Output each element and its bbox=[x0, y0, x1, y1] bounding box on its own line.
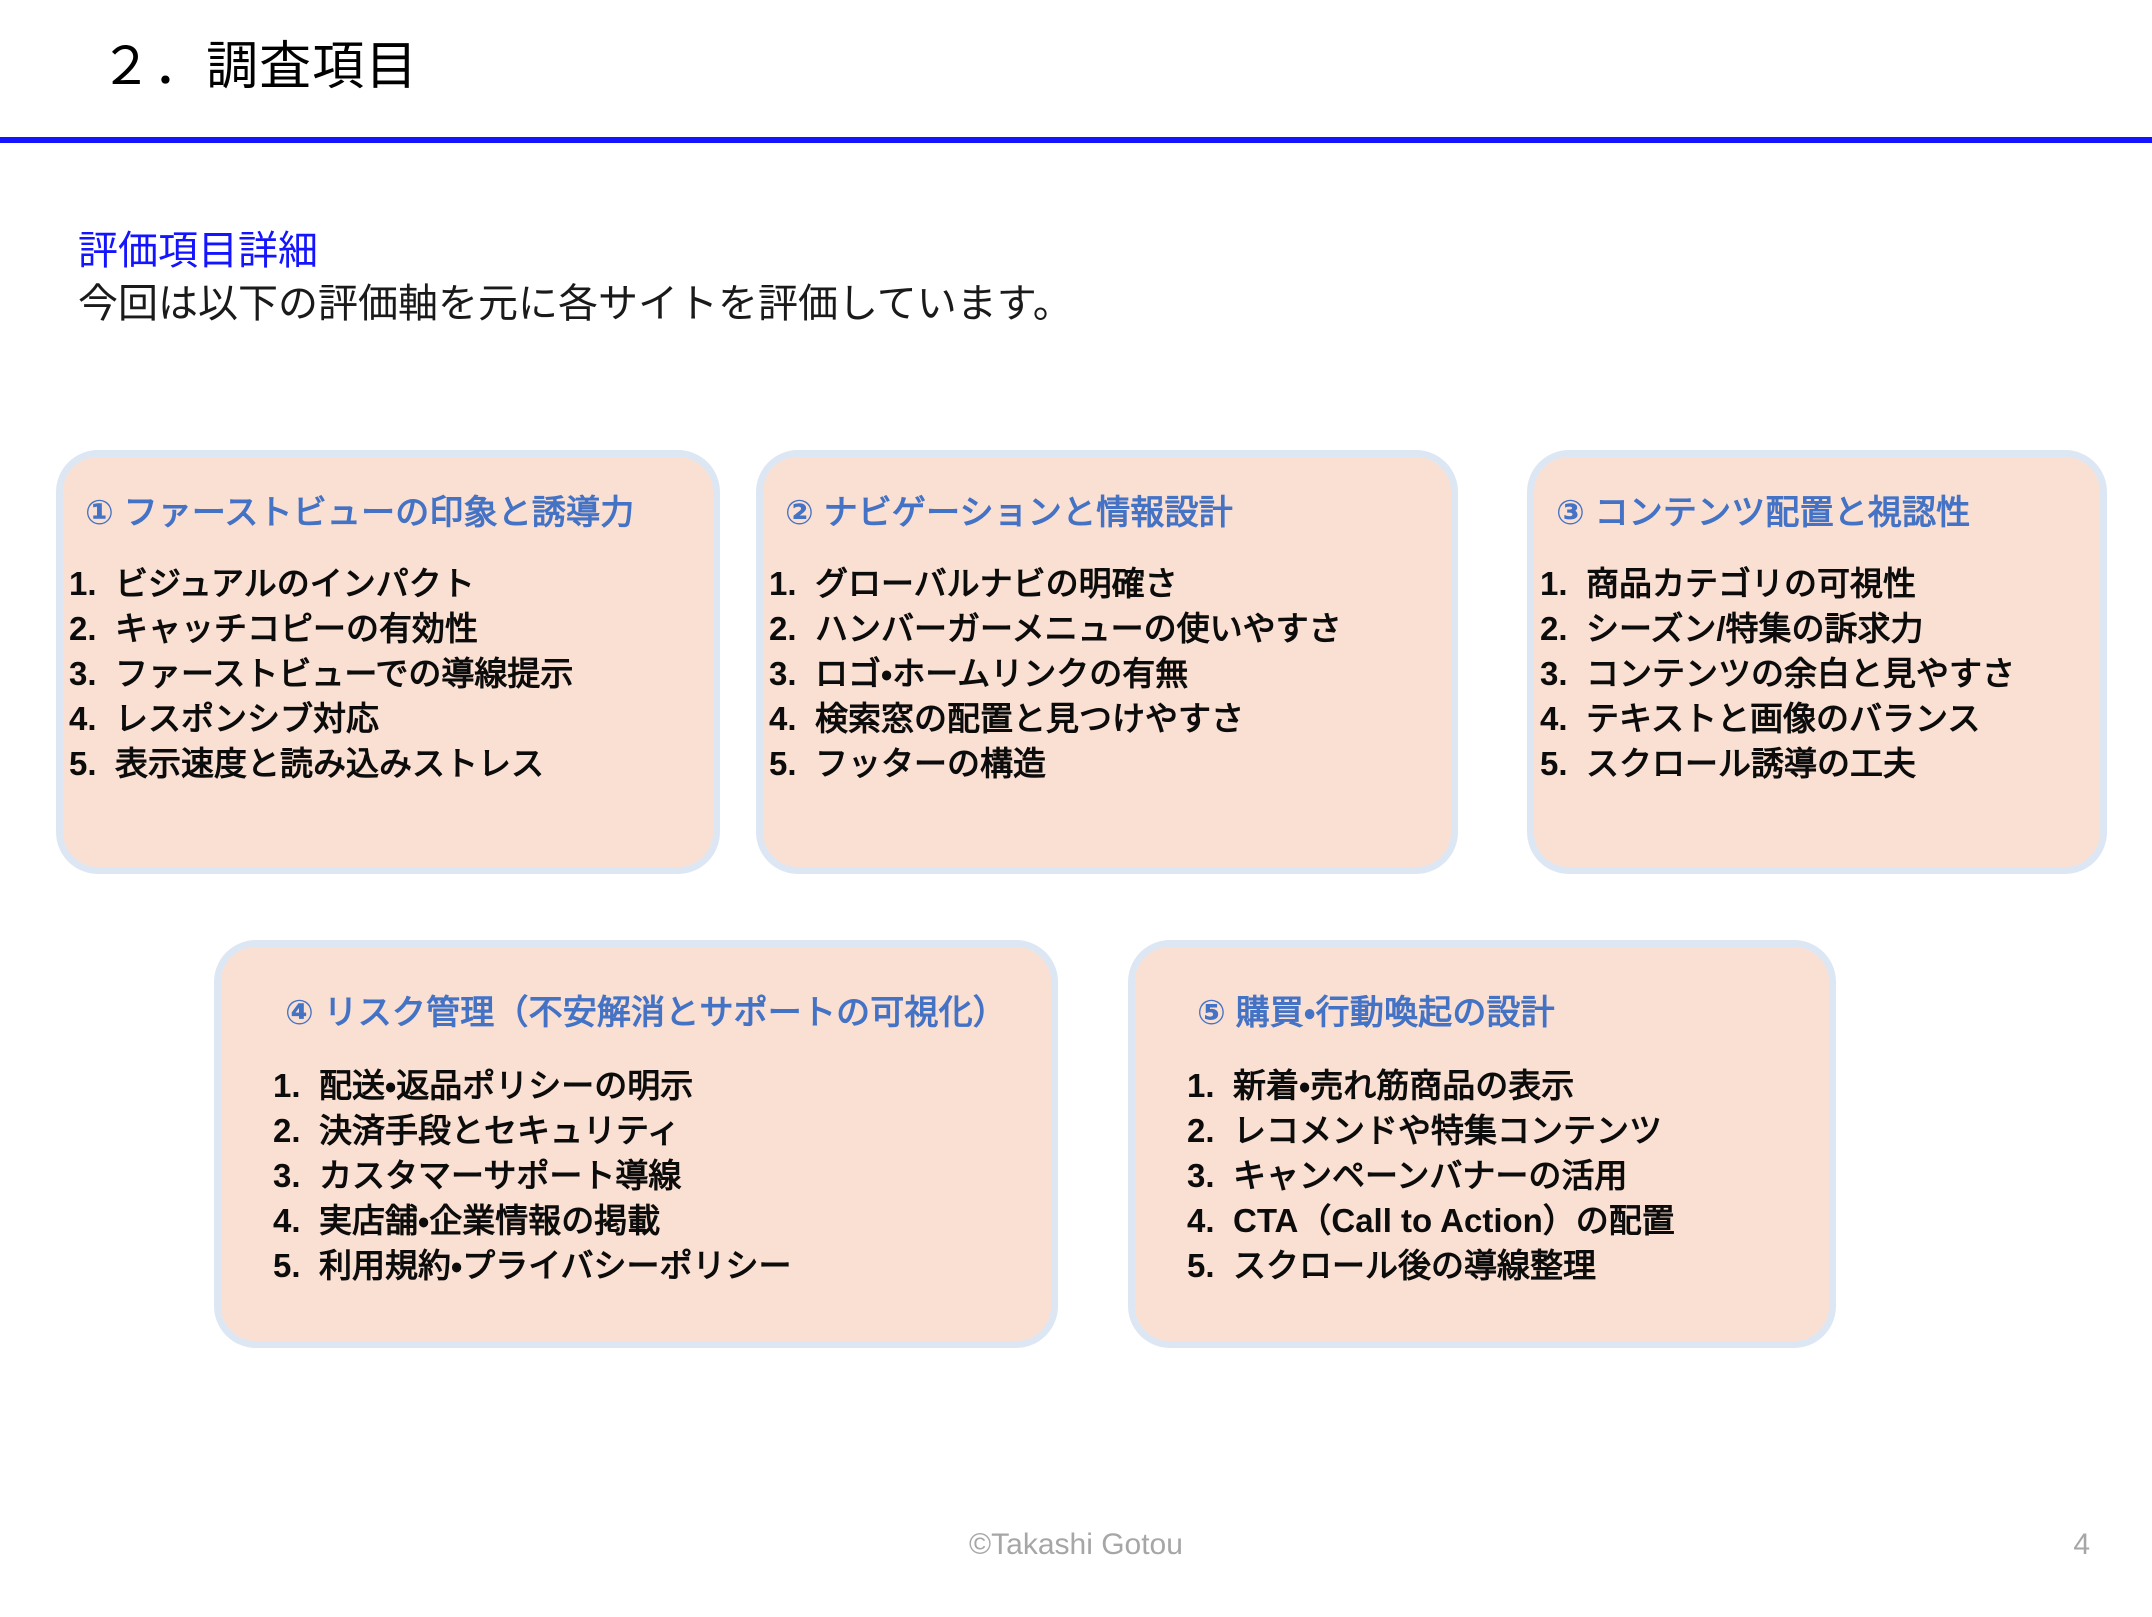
list-item: 1. ビジュアルのインパクト bbox=[69, 567, 573, 600]
list-item-number: 1. bbox=[69, 567, 115, 600]
list-item-label: テキストと画像のバランス bbox=[1586, 702, 1980, 735]
list-item: 4. テキストと画像のバランス bbox=[1540, 702, 2015, 735]
list-item: 1. 商品カテゴリの可視性 bbox=[1540, 567, 2015, 600]
list-item-number: 5. bbox=[1540, 747, 1586, 780]
footer-copyright: ©Takashi Gotou bbox=[0, 1528, 2152, 1562]
list-item: 1. 配送・返品ポリシーの明示 bbox=[273, 1069, 792, 1102]
evaluation-card-5: ⑤ 購買・行動喚起の設計 1. 新着・売れ筋商品の表示 2. レコメンドや特集コ… bbox=[1128, 940, 1836, 1348]
list-item-label: キャンペーンバナーの活用 bbox=[1233, 1159, 1627, 1192]
list-item-number: 4. bbox=[69, 702, 115, 735]
list-item: 3. キャンペーンバナーの活用 bbox=[1187, 1159, 1675, 1192]
list-item: 2. 決済手段とセキュリティ bbox=[273, 1114, 792, 1147]
card-3-header: ③ コンテンツ配置と視認性 bbox=[1556, 485, 1970, 534]
list-item: 5. 表示速度と読み込みストレス bbox=[69, 747, 573, 780]
list-item: 2. キャッチコピーの有効性 bbox=[69, 612, 573, 645]
list-item: 1. 新着・売れ筋商品の表示 bbox=[1187, 1069, 1675, 1102]
page-title: ２．調査項目 bbox=[100, 24, 418, 99]
card-1-list: 1. ビジュアルのインパクト 2. キャッチコピーの有効性 3. ファーストビュ… bbox=[69, 567, 573, 792]
list-item: 2. シーズン/特集の訴求力 bbox=[1540, 612, 2015, 645]
list-item-number: 1. bbox=[769, 567, 815, 600]
card-4-header: ④ リスク管理（不安解消とサポートの可視化） bbox=[285, 985, 1007, 1034]
card-2-header: ② ナビゲーションと情報設計 bbox=[785, 485, 1233, 534]
list-item-number: 5. bbox=[1187, 1249, 1233, 1282]
list-item-label: レスポンシブ対応 bbox=[115, 702, 379, 735]
list-item-number: 5. bbox=[769, 747, 815, 780]
footer-page-number: 4 bbox=[2073, 1528, 2090, 1562]
list-item: 3. コンテンツの余白と見やすさ bbox=[1540, 657, 2015, 690]
lead-block: 評価項目詳細 今回は以下の評価軸を元に各サイトを評価しています。 bbox=[78, 228, 1678, 328]
list-item-label: コンテンツの余白と見やすさ bbox=[1586, 657, 2015, 690]
list-item: 4. 検索窓の配置と見つけやすさ bbox=[769, 702, 1342, 735]
list-item: 1. グローバルナビの明確さ bbox=[769, 567, 1342, 600]
list-item-number: 2. bbox=[1187, 1114, 1233, 1147]
evaluation-card-4: ④ リスク管理（不安解消とサポートの可視化） 1. 配送・返品ポリシーの明示 2… bbox=[214, 940, 1058, 1348]
list-item-label: レコメンドや特集コンテンツ bbox=[1233, 1114, 1662, 1147]
list-item: 5. スクロール後の導線整理 bbox=[1187, 1249, 1675, 1282]
list-item-label: ビジュアルのインパクト bbox=[115, 567, 475, 600]
list-item-number: 4. bbox=[1187, 1204, 1233, 1237]
evaluation-card-1: ① ファーストビューの印象と誘導力 1. ビジュアルのインパクト 2. キャッチ… bbox=[56, 450, 720, 874]
list-item-number: 2. bbox=[769, 612, 815, 645]
lead-heading: 評価項目詳細 bbox=[78, 228, 1678, 275]
list-item: 4. 実店舗・企業情報の掲載 bbox=[273, 1204, 792, 1237]
list-item-number: 4. bbox=[273, 1204, 319, 1237]
list-item: 3. カスタマーサポート導線 bbox=[273, 1159, 792, 1192]
list-item-number: 3. bbox=[1540, 657, 1586, 690]
card-2-list: 1. グローバルナビの明確さ 2. ハンバーガーメニューの使いやすさ 3. ロゴ… bbox=[769, 567, 1342, 792]
list-item-label: 検索窓の配置と見つけやすさ bbox=[815, 702, 1244, 735]
list-item-number: 2. bbox=[273, 1114, 319, 1147]
list-item-label: フッターの構造 bbox=[815, 747, 1046, 780]
list-item-number: 3. bbox=[69, 657, 115, 690]
list-item-label: グローバルナビの明確さ bbox=[815, 567, 1178, 600]
list-item: 4. CTA（Call to Action）の配置 bbox=[1187, 1204, 1675, 1237]
title-divider bbox=[0, 137, 2152, 143]
list-item-label: キャッチコピーの有効性 bbox=[115, 612, 478, 645]
list-item-number: 4. bbox=[769, 702, 815, 735]
list-item-label: スクロール後の導線整理 bbox=[1233, 1249, 1596, 1282]
list-item-label: 利用規約・プライバシーポリシー bbox=[319, 1249, 792, 1282]
card-3-list: 1. 商品カテゴリの可視性 2. シーズン/特集の訴求力 3. コンテンツの余白… bbox=[1540, 567, 2015, 792]
evaluation-card-2: ② ナビゲーションと情報設計 1. グローバルナビの明確さ 2. ハンバーガーメ… bbox=[756, 450, 1458, 874]
list-item-number: 5. bbox=[273, 1249, 319, 1282]
list-item-label: ファーストビューでの導線提示 bbox=[115, 657, 573, 690]
list-item-number: 2. bbox=[69, 612, 115, 645]
list-item-number: 3. bbox=[1187, 1159, 1233, 1192]
list-item-number: 3. bbox=[769, 657, 815, 690]
list-item: 3. ロゴ・ホームリンクの有無 bbox=[769, 657, 1342, 690]
list-item-label: 配送・返品ポリシーの明示 bbox=[319, 1069, 693, 1102]
list-item-label: スクロール誘導の工夫 bbox=[1586, 747, 1916, 780]
list-item-number: 2. bbox=[1540, 612, 1586, 645]
list-item-label: 商品カテゴリの可視性 bbox=[1586, 567, 1916, 600]
list-item: 5. フッターの構造 bbox=[769, 747, 1342, 780]
card-5-list: 1. 新着・売れ筋商品の表示 2. レコメンドや特集コンテンツ 3. キャンペー… bbox=[1187, 1069, 1675, 1294]
list-item-number: 1. bbox=[273, 1069, 319, 1102]
card-5-header: ⑤ 購買・行動喚起の設計 bbox=[1197, 985, 1555, 1034]
card-1-header: ① ファーストビューの印象と誘導力 bbox=[85, 485, 634, 534]
list-item-label: カスタマーサポート導線 bbox=[319, 1159, 681, 1192]
list-item: 3. ファーストビューでの導線提示 bbox=[69, 657, 573, 690]
list-item: 4. レスポンシブ対応 bbox=[69, 702, 573, 735]
list-item: 5. スクロール誘導の工夫 bbox=[1540, 747, 2015, 780]
list-item-number: 5. bbox=[69, 747, 115, 780]
list-item-label: 決済手段とセキュリティ bbox=[319, 1114, 680, 1147]
evaluation-card-3: ③ コンテンツ配置と視認性 1. 商品カテゴリの可視性 2. シーズン/特集の訴… bbox=[1527, 450, 2107, 874]
list-item-label: ロゴ・ホームリンクの有無 bbox=[815, 657, 1188, 690]
list-item-label: CTA（Call to Action）の配置 bbox=[1233, 1204, 1675, 1237]
list-item: 2. レコメンドや特集コンテンツ bbox=[1187, 1114, 1675, 1147]
list-item-number: 4. bbox=[1540, 702, 1586, 735]
list-item: 5. 利用規約・プライバシーポリシー bbox=[273, 1249, 792, 1282]
list-item-number: 1. bbox=[1540, 567, 1586, 600]
lead-body: 今回は以下の評価軸を元に各サイトを評価しています。 bbox=[78, 281, 1678, 328]
list-item-number: 1. bbox=[1187, 1069, 1233, 1102]
list-item-label: 実店舗・企業情報の掲載 bbox=[319, 1204, 660, 1237]
list-item: 2. ハンバーガーメニューの使いやすさ bbox=[769, 612, 1342, 645]
list-item-label: ハンバーガーメニューの使いやすさ bbox=[815, 612, 1342, 645]
list-item-label: 表示速度と読み込みストレス bbox=[115, 747, 544, 780]
list-item-label: シーズン/特集の訴求力 bbox=[1586, 612, 1924, 645]
list-item-label: 新着・売れ筋商品の表示 bbox=[1233, 1069, 1574, 1102]
card-4-list: 1. 配送・返品ポリシーの明示 2. 決済手段とセキュリティ 3. カスタマーサ… bbox=[273, 1069, 792, 1294]
list-item-number: 3. bbox=[273, 1159, 319, 1192]
